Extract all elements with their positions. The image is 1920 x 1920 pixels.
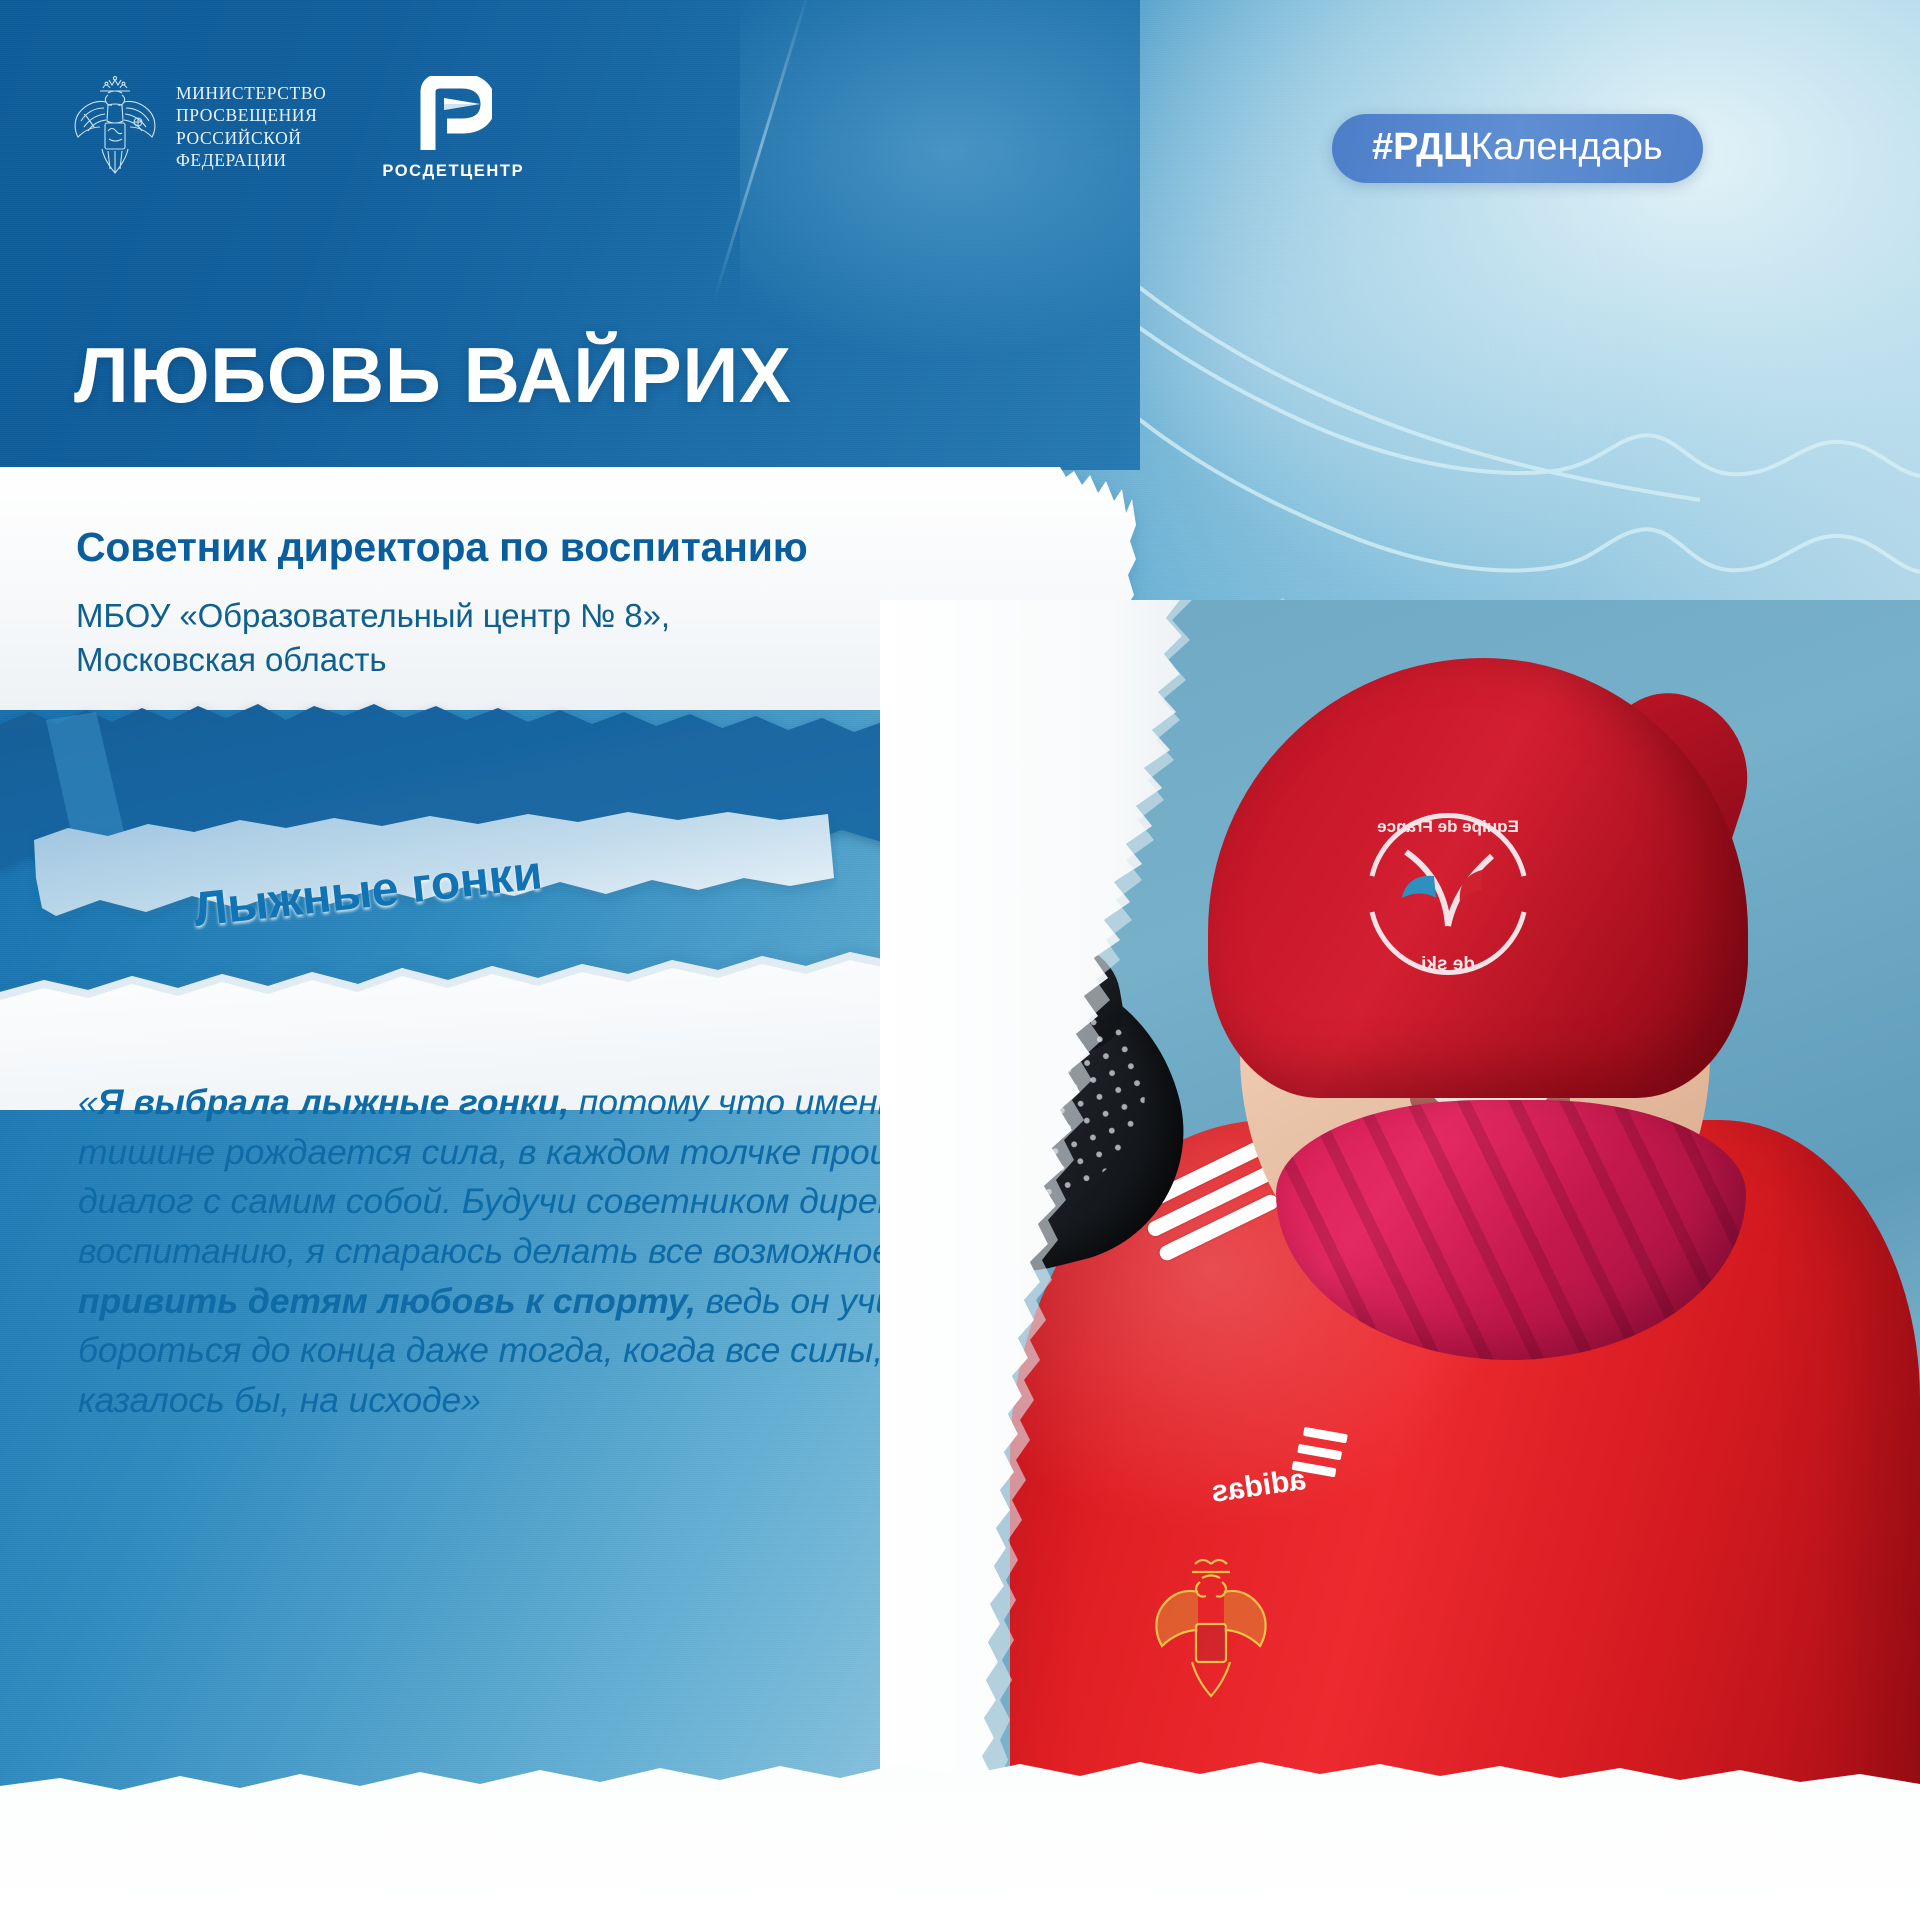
ministry-line-1: Министерство xyxy=(176,82,326,104)
logo-row: Министерство Просвещения Российской Феде… xyxy=(72,72,524,181)
quote-bold-2: привить детям любовь к спорту, xyxy=(78,1281,696,1321)
rosdetcentr-wordmark: РОСДЕТЦЕНТР xyxy=(382,162,524,181)
ministry-line-2: Просвещения xyxy=(176,104,326,126)
equipe-de-france-ski-logo-icon: Equipe de France de ski xyxy=(1338,778,1558,998)
sport-label: Лыжные гонки xyxy=(191,845,545,937)
hashtag-bold-part: #РДЦ xyxy=(1372,126,1471,168)
header-glow xyxy=(740,0,1140,360)
rosdetcentr-logo: РОСДЕТЦЕНТР xyxy=(382,76,524,181)
rosdetcentr-p-mark-icon xyxy=(414,76,492,154)
ministry-logo: Министерство Просвещения Российской Феде… xyxy=(72,75,326,179)
role-title: Советник директора по воспитанию xyxy=(76,524,808,571)
school-line-1: МБОУ «Образовательный центр № 8», xyxy=(76,594,670,638)
ministry-logo-text: Министерство Просвещения Российской Феде… xyxy=(176,82,326,170)
ministry-line-3: Российской xyxy=(176,127,326,149)
poster-canvas: Министерство Просвещения Российской Феде… xyxy=(0,0,1920,1920)
double-headed-eagle-icon xyxy=(72,75,158,179)
school-line-2: Московская область xyxy=(76,638,670,682)
quote-bold-lead: Я выбрала лыжные гонки, xyxy=(98,1082,569,1122)
sport-ribbon: Лыжные гонки xyxy=(30,800,790,1030)
svg-text:Equipe de France: Equipe de France xyxy=(1377,817,1519,836)
svg-text:de ski: de ski xyxy=(1421,954,1475,975)
page-title: ЛЮБОВЬ ВАЙРИХ xyxy=(74,336,791,414)
hashtag-regular-part: Календарь xyxy=(1471,126,1663,168)
quote-close: » xyxy=(461,1380,481,1420)
ministry-line-4: Федерации xyxy=(176,149,326,171)
hashtag-badge[interactable]: #РДЦКалендарь xyxy=(1332,114,1703,183)
school-subtitle: МБОУ «Образовательный центр № 8», Москов… xyxy=(76,594,670,682)
quote-open: « xyxy=(78,1082,98,1122)
bottom-white-band xyxy=(0,1690,1920,1920)
